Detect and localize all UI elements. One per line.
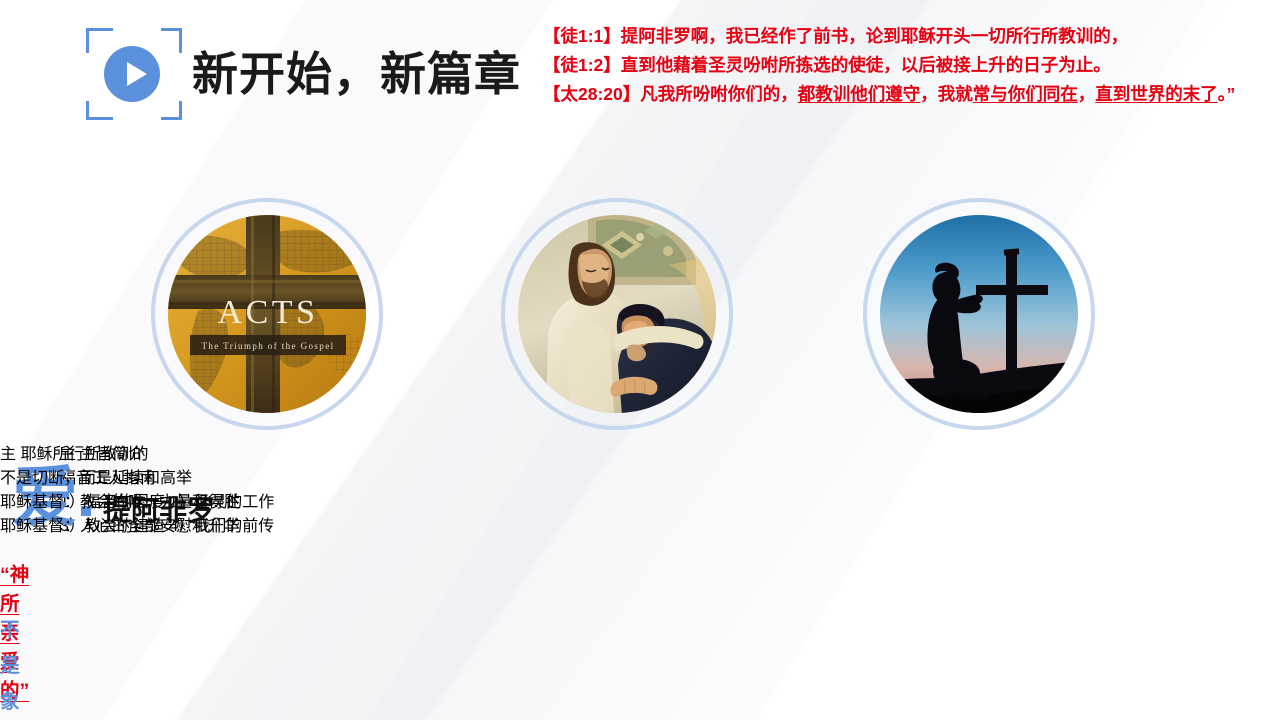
column-heading-row: 主 耶稣所行所教训的 [0, 440, 240, 464]
scripture-verse-matt-28-20: 【太28:20】凡我所吩咐你们的，都教训他们遵守，我就常与你们同在，直到世界的末… [543, 80, 1261, 109]
feature-image-3 [863, 198, 1095, 430]
frame-notch-left [85, 53, 91, 101]
scripture-emphasis: 都教训他们遵守 [798, 84, 921, 104]
acts-book-cover-image: ACTS The Triumph of the Gospel [168, 215, 366, 413]
acts-artwork: ACTS The Triumph of the Gospel [168, 215, 366, 413]
column-heading-label: 耶稣所行所教训的 [20, 446, 148, 463]
scripture-text: 【太28:20】凡我所吩咐你们的， [543, 84, 798, 104]
acts-title-text: ACTS [218, 294, 319, 331]
bullet-line: 耶稣基督：教会的唯一力量和得胜 [0, 488, 240, 512]
praying-silhouette-cross-image [880, 215, 1078, 413]
page-title: 新开始，新篇章 [192, 38, 521, 104]
jesus-embracing-man-image [518, 215, 716, 413]
play-triangle-icon [127, 62, 147, 86]
column-big-character: 主 [0, 446, 16, 463]
scripture-verse-acts-1-2: 【徒1:2】直到他藉着圣灵吩咐所拣选的使徒，以后被接上升的日子为止。 [543, 51, 1261, 80]
frame-notch-bottom [113, 115, 161, 121]
acts-subtitle-text: The Triumph of the Gospel [202, 341, 335, 351]
jesus-artwork [518, 215, 716, 413]
brand-logo [86, 28, 182, 120]
feature-image-2 [501, 198, 733, 430]
scripture-text: 【徒1:2】直到他藉着圣灵吩咐所拣选的使徒，以后被接上升的日子为止。 [543, 55, 1111, 75]
bullet-line: 耶稣基督：人心的全部安慰和升华 [0, 512, 240, 536]
column-red-subtitle: 不是切断，而是延续和高举 [0, 464, 240, 488]
play-button-icon [104, 46, 160, 102]
scripture-verse-acts-1-1: 【徒1:1】提阿非罗啊，我已经作了前书，论到耶稣开头一切所行所教训的， [543, 22, 1261, 51]
content-column-3: 主 耶稣所行所教训的 不是切断，而是延续和高举 耶稣基督：教会的唯一力量和得胜 … [0, 440, 240, 536]
prayer-artwork [880, 215, 1078, 413]
scripture-emphasis: 常与你们同在 [973, 84, 1078, 104]
scripture-text: 【徒1:1】提阿非罗啊，我已经作了前书，论到耶稣开头一切所行所教训的， [543, 26, 1128, 46]
frame-notch-right [177, 53, 183, 101]
scripture-text: ，我就 [920, 84, 973, 104]
scripture-emphasis: 直到世界的末了 [1095, 84, 1218, 104]
scripture-block: 【徒1:1】提阿非罗啊，我已经作了前书，论到耶稣开头一切所行所教训的， 【徒1:… [543, 22, 1261, 109]
scripture-text: ， [1078, 84, 1096, 104]
frame-notch-top [113, 27, 161, 33]
scripture-text: 。” [1218, 84, 1236, 104]
slide-canvas: 新开始，新篇章 【徒1:1】提阿非罗啊，我已经作了前书，论到耶稣开头一切所行所教… [0, 0, 1280, 720]
feature-image-1: ACTS The Triumph of the Gospel [151, 198, 383, 430]
column-bullets: 耶稣基督：教会的唯一力量和得胜 耶稣基督：人心的全部安慰和升华 [0, 488, 240, 536]
